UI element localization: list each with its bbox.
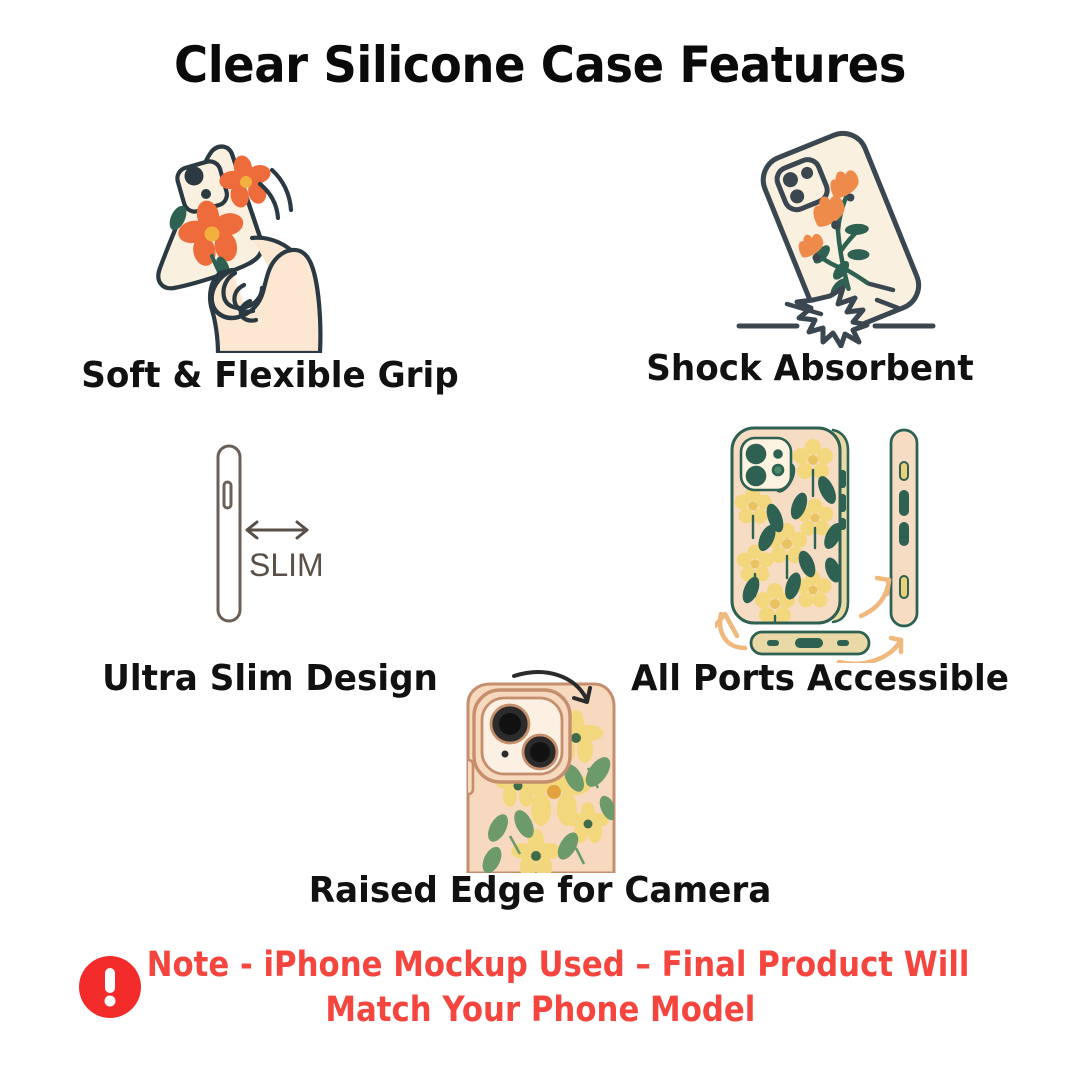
note-line-1: Note - iPhone Mockup Used – Final Produc… (111, 943, 969, 988)
phone-back-and-edge-cutouts-icon (715, 418, 950, 663)
slim-caption: SLIM (249, 547, 324, 583)
feature-label-ultra-slim-design: Ultra Slim Design (33, 658, 508, 699)
feature-label-shock-absorbent: Shock Absorbent (592, 348, 1029, 389)
feature-label-soft-flexible-grip: Soft & Flexible Grip (33, 355, 508, 396)
note-line-2: Match Your Phone Model (325, 988, 755, 1033)
camera-bump-raised-edge-icon (448, 668, 638, 873)
note-block: Note - iPhone Mockup Used – Final Produc… (0, 943, 1080, 1033)
phone-side-profile-slim-icon: SLIM (185, 428, 370, 638)
page-title: Clear Silicone Case Features (38, 36, 1042, 94)
phone-dropping-impact-burst-icon (735, 118, 950, 348)
hand-holding-flexing-phone-case-icon (140, 118, 370, 353)
feature-label-all-ports-accessible: All Ports Accessible (592, 658, 1048, 699)
infographic-page: Clear Silicone Case Features (0, 0, 1080, 1080)
feature-label-raised-edge-for-camera: Raised Edge for Camera (198, 870, 882, 911)
